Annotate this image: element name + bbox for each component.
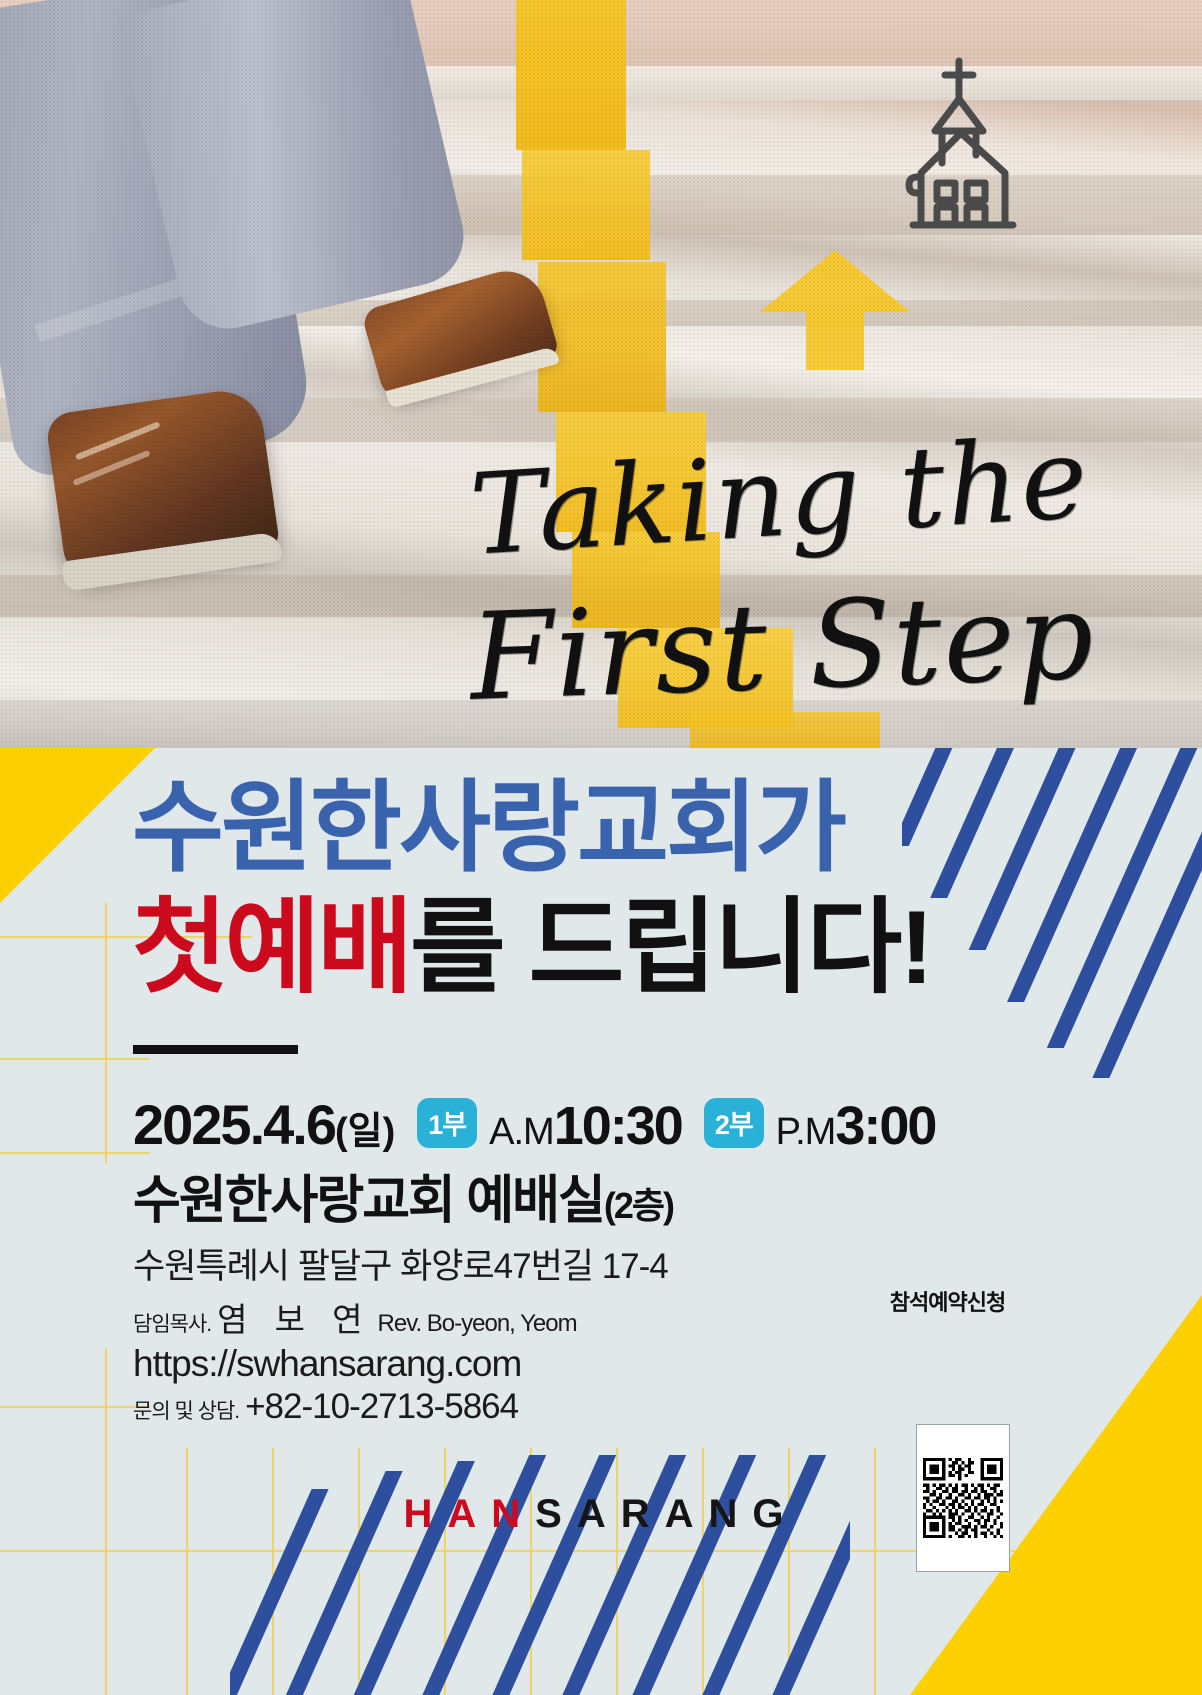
logo-sarang: SARANG <box>535 1492 798 1536</box>
venue-line: 수원한사랑교회 예배실(2층) <box>133 1158 673 1233</box>
church-icon <box>895 55 1030 230</box>
headline-highlight: 첫예배 <box>132 890 410 1006</box>
pastor-name-english: Rev. Bo-yeon, Yeom <box>378 1310 577 1338</box>
script-headline-line2: First Step <box>468 567 1098 728</box>
session2-time: 3:00 <box>835 1095 935 1157</box>
venue-name: 수원한사랑교회 예배실 <box>133 1172 604 1230</box>
session1-meridiem: A.M <box>489 1111 554 1154</box>
inquiry-line: 문의 및 상담. +82-10-2713-5864 <box>133 1387 668 1427</box>
session2-badge: 2부 <box>704 1098 764 1148</box>
headline-line1: 수원한사랑교회가 <box>132 778 844 878</box>
church-address: 수원특례시 팔달구 화양로47번길 17-4 <box>133 1238 668 1289</box>
hero-photo: Taking the First Step <box>0 0 1202 748</box>
website-link[interactable]: https://swhansarang.com <box>133 1343 668 1385</box>
diagonal-stripes-bottom <box>230 1455 850 1695</box>
venue-floor: (2층) <box>604 1185 673 1226</box>
phone-number[interactable]: +82-10-2713-5864 <box>245 1387 518 1427</box>
service-date: 2025.4.6 <box>133 1092 335 1157</box>
diagonal-stripes-top-right <box>902 748 1202 1078</box>
qr-label: 참석예약신청 <box>860 1285 1035 1317</box>
section-divider <box>133 1045 298 1054</box>
session1-badge: 1부 <box>417 1098 477 1148</box>
session1-time: 10:30 <box>554 1095 682 1157</box>
headline-line2: 첫예배를 드립니다! <box>132 896 931 1000</box>
session2-meridiem: P.M <box>776 1111 836 1154</box>
logo-han: HAN <box>403 1492 535 1536</box>
hansarang-logo: HANSARANG <box>0 1492 1202 1537</box>
poster-root: Taking the First Step <box>0 0 1202 1695</box>
pastor-line: 담임목사. 염 보 연 Rev. Bo-yeon, Yeom <box>133 1293 668 1341</box>
inquiry-label: 문의 및 상담. <box>133 1395 239 1425</box>
headline-rest: 를 드립니다! <box>410 890 931 1006</box>
schedule-line: 2025.4.6 (일) 1부 A.M 10:30 2부 P.M 3:00 <box>133 1092 935 1158</box>
pastor-name: 염 보 연 <box>217 1293 371 1341</box>
pastor-label: 담임목사. <box>133 1308 211 1338</box>
contact-block: 수원특례시 팔달구 화양로47번길 17-4 담임목사. 염 보 연 Rev. … <box>133 1238 668 1427</box>
service-day-of-week: (일) <box>335 1100 395 1155</box>
